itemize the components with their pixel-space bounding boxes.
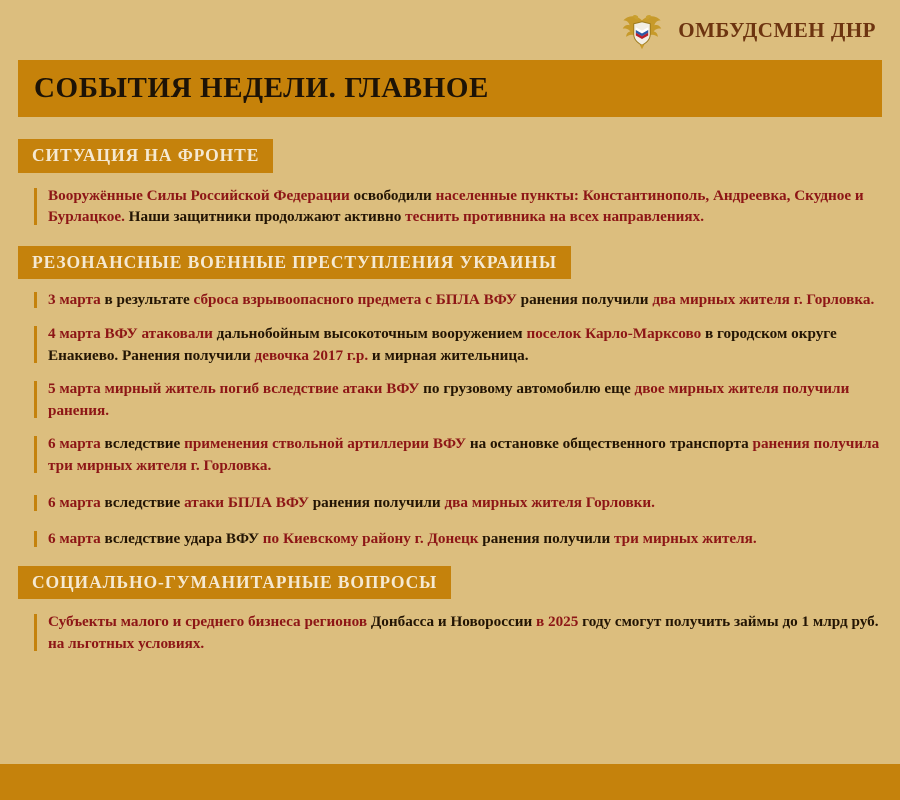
brand-header: ОМБУДСМЕН ДНР bbox=[0, 0, 900, 60]
emphasis-text: два мирных жителя Горловки. bbox=[444, 494, 655, 511]
emphasis-text: три мирных жителя. bbox=[614, 530, 757, 547]
emphasis-text: 5 марта мирный житель погиб вследствие а… bbox=[48, 380, 423, 397]
body-text: ранения получили bbox=[313, 494, 445, 511]
body-text: году смогут получить займы до 1 млрд руб… bbox=[582, 613, 878, 630]
brand-lockup: ОМБУДСМЕН ДНР bbox=[620, 8, 876, 52]
emphasis-text: поселок Карло-Марксово bbox=[526, 325, 705, 342]
emphasis-text: два мирных жителя г. Горловка. bbox=[652, 291, 874, 308]
emphasis-text: Вооружённые Силы Российской Федерации bbox=[48, 187, 354, 204]
list-item-text: Субъекты малого и среднего бизнеса регио… bbox=[48, 611, 882, 654]
body-text: вследствие удара ВФУ bbox=[105, 530, 263, 547]
list-item: 3 марта в результате сброса взрывоопасно… bbox=[34, 289, 882, 311]
emphasis-text: сброса взрывоопасного предмета с БПЛА ВФ… bbox=[194, 291, 521, 308]
list-item-text: 6 марта вследствие применения ствольной … bbox=[48, 433, 882, 476]
body-text: ранения получили bbox=[521, 291, 653, 308]
list-item-text: 5 марта мирный житель погиб вследствие а… bbox=[48, 378, 882, 421]
list-item: Вооружённые Силы Российской Федерации ос… bbox=[34, 185, 882, 228]
dnr-eagle-emblem-icon bbox=[620, 8, 664, 52]
list-item-text: 6 марта вследствие удара ВФУ по Киевском… bbox=[48, 528, 882, 550]
page-title: СОБЫТИЯ НЕДЕЛИ. ГЛАВНОЕ bbox=[18, 60, 882, 117]
emphasis-text: атаки БПЛА ВФУ bbox=[184, 494, 313, 511]
list-item-text: 6 марта вследствие атаки БПЛА ВФУ ранени… bbox=[48, 492, 882, 514]
body-text: по грузовому автомобилю еще bbox=[423, 380, 634, 397]
body-text: и мирная жительница. bbox=[372, 347, 529, 364]
sections-root: СИТУАЦИЯ НА ФРОНТЕВооружённые Силы Росси… bbox=[0, 139, 900, 654]
footer-bar bbox=[0, 764, 900, 800]
emphasis-text: 6 марта bbox=[48, 494, 105, 511]
section-items: 3 марта в результате сброса взрывоопасно… bbox=[0, 289, 900, 549]
brand-title: ОМБУДСМЕН ДНР bbox=[678, 18, 876, 43]
list-item-text: 4 марта ВФУ атаковали дальнобойным высок… bbox=[48, 323, 882, 366]
list-item: 6 марта вследствие удара ВФУ по Киевском… bbox=[34, 528, 882, 550]
list-item-text: 3 марта в результате сброса взрывоопасно… bbox=[48, 289, 882, 311]
list-item: 6 марта вследствие применения ствольной … bbox=[34, 433, 882, 476]
section-header: СИТУАЦИЯ НА ФРОНТЕ bbox=[18, 139, 273, 172]
poster-page: ОМБУДСМЕН ДНР СОБЫТИЯ НЕДЕЛИ. ГЛАВНОЕ СИ… bbox=[0, 0, 900, 800]
main-title-container: СОБЫТИЯ НЕДЕЛИ. ГЛАВНОЕ bbox=[0, 60, 900, 117]
section-header-container: РЕЗОНАНСНЫЕ ВОЕННЫЕ ПРЕСТУПЛЕНИЯ УКРАИНЫ bbox=[0, 246, 900, 279]
body-text: дальнобойным высокоточным вооружением bbox=[217, 325, 527, 342]
body-text: ранения получили bbox=[482, 530, 614, 547]
emphasis-text: теснить противника на всех направлениях. bbox=[405, 208, 704, 225]
body-text: вследствие bbox=[105, 494, 185, 511]
body-text: Наши защитники продолжают активно bbox=[129, 208, 405, 225]
emphasis-text: по Киевскому району г. Донецк bbox=[263, 530, 483, 547]
emphasis-text: на льготных условиях. bbox=[48, 635, 204, 652]
body-text: в результате bbox=[105, 291, 194, 308]
section-items: Субъекты малого и среднего бизнеса регио… bbox=[0, 611, 900, 654]
list-item: 4 марта ВФУ атаковали дальнобойным высок… bbox=[34, 323, 882, 366]
emphasis-text: 3 марта bbox=[48, 291, 105, 308]
emphasis-text: Субъекты малого и среднего бизнеса регио… bbox=[48, 613, 371, 630]
section-header-container: СОЦИАЛЬНО-ГУМАНИТАРНЫЕ ВОПРОСЫ bbox=[0, 566, 900, 599]
section-header: СОЦИАЛЬНО-ГУМАНИТАРНЫЕ ВОПРОСЫ bbox=[18, 566, 451, 599]
body-text: освободили bbox=[354, 187, 436, 204]
body-text: вследствие bbox=[105, 435, 185, 452]
list-item-text: Вооружённые Силы Российской Федерации ос… bbox=[48, 185, 882, 228]
list-item: 5 марта мирный житель погиб вследствие а… bbox=[34, 378, 882, 421]
emphasis-text: девочка 2017 г.р. bbox=[255, 347, 372, 364]
body-text: Донбасса и Новороссии bbox=[371, 613, 536, 630]
emphasis-text: в 2025 bbox=[536, 613, 582, 630]
emphasis-text: 6 марта bbox=[48, 435, 105, 452]
body-text: на остановке общественного транспорта bbox=[470, 435, 753, 452]
emphasis-text: применения ствольной артиллерии ВФУ bbox=[184, 435, 470, 452]
section-items: Вооружённые Силы Российской Федерации ос… bbox=[0, 185, 900, 228]
section-header: РЕЗОНАНСНЫЕ ВОЕННЫЕ ПРЕСТУПЛЕНИЯ УКРАИНЫ bbox=[18, 246, 571, 279]
emphasis-text: 6 марта bbox=[48, 530, 105, 547]
list-item: Субъекты малого и среднего бизнеса регио… bbox=[34, 611, 882, 654]
list-item: 6 марта вследствие атаки БПЛА ВФУ ранени… bbox=[34, 492, 882, 514]
section-header-container: СИТУАЦИЯ НА ФРОНТЕ bbox=[0, 139, 900, 172]
emphasis-text: 4 марта ВФУ атаковали bbox=[48, 325, 217, 342]
